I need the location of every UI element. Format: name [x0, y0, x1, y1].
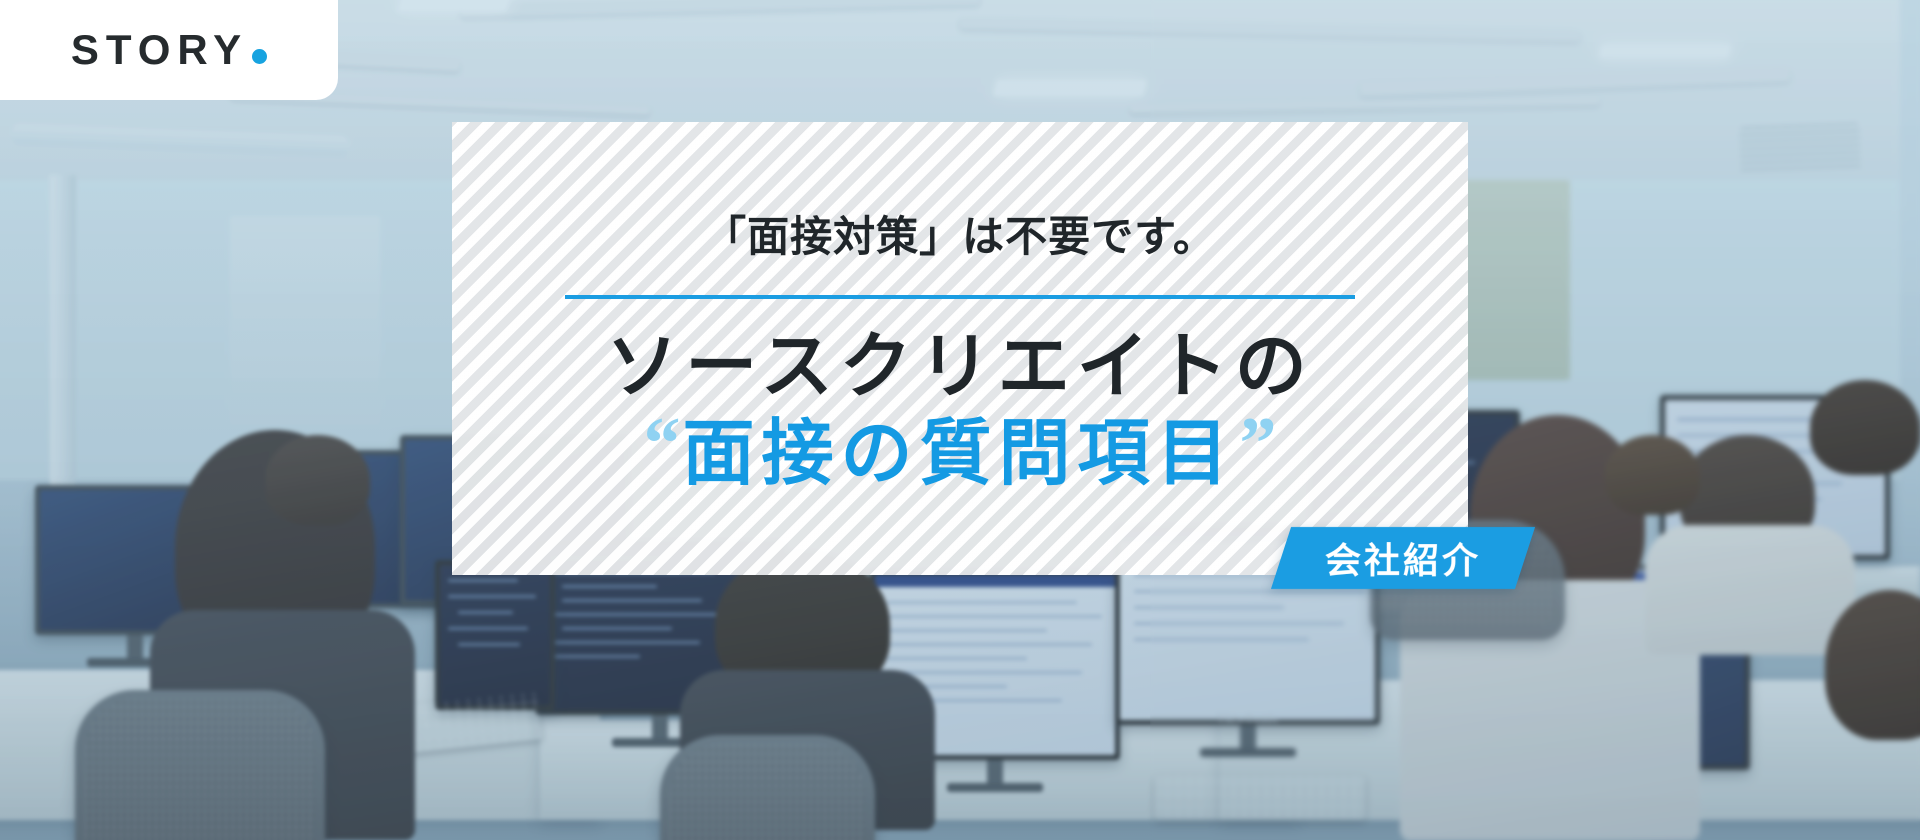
card-headline: ソースクリエイトの [606, 325, 1313, 410]
hero-banner: ViewSonic ViewSonic [0, 0, 1920, 840]
card-quote-text: 面接の質問項目 [682, 412, 1235, 497]
quote-close-icon: ” [1240, 407, 1277, 481]
category-badge[interactable]: 会社紹介 [1271, 527, 1535, 589]
logo[interactable]: STORY [0, 0, 338, 100]
category-badge-label: 会社紹介 [1325, 532, 1481, 584]
quote-open-icon: “ [643, 407, 680, 481]
logo-wordmark: STORY [71, 29, 248, 71]
card-quoted-headline: “面接の質問項目” [643, 412, 1276, 497]
card-subtitle: 「面接対策」は不要です。 [704, 212, 1216, 262]
logo-text: STORY [71, 29, 267, 71]
hero-card: 「面接対策」は不要です。 ソースクリエイトの “面接の質問項目” [452, 122, 1468, 575]
blue-dot-icon [252, 49, 267, 64]
card-divider [565, 295, 1355, 299]
